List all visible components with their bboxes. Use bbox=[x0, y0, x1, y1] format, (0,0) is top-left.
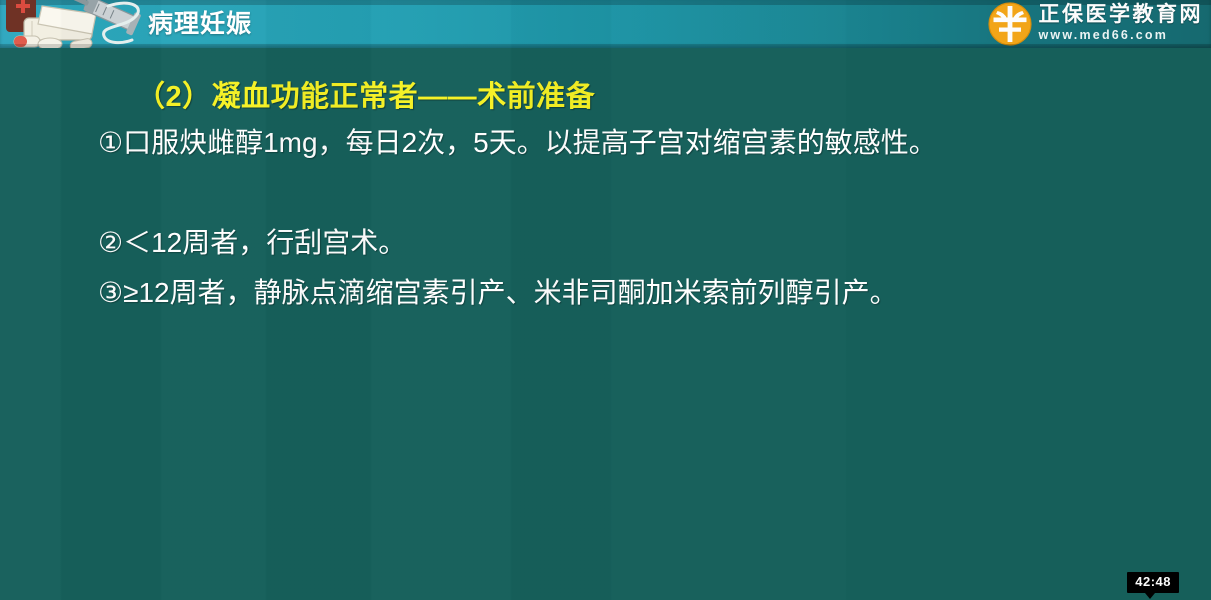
slide-paragraph-1-text: ①口服炔雌醇1mg，每日2次，5天。以提高子宫对缩宫素的敏感性。 bbox=[98, 127, 937, 158]
slide-paragraph-3-text: ③≥12周者，静脉点滴缩宫素引产、米非司酮加米索前列醇引产。 bbox=[98, 277, 898, 308]
slide-heading: （2）凝血功能正常者——术前准备 bbox=[136, 73, 595, 115]
brand-name: 正保医学教育网 bbox=[1039, 4, 1204, 25]
slide-paragraph-2: ②＜12周者，行刮宫术。 bbox=[58, 218, 1148, 268]
brand-text-block: 正保医学教育网 www.med66.com bbox=[1039, 4, 1204, 44]
medical-supplies-illustration bbox=[0, 0, 155, 48]
slide-paragraph-3: ③≥12周者，静脉点滴缩宫素引产、米非司酮加米索前列醇引产。 bbox=[58, 268, 1148, 318]
slide-paragraph-1: ①口服炔雌醇1mg，每日2次，5天。以提高子宫对缩宫素的敏感性。 bbox=[58, 118, 1148, 168]
brand-logo[interactable]: 正保医学教育网 www.med66.com bbox=[988, 1, 1204, 47]
med66-cross-logo-icon bbox=[988, 2, 1032, 46]
timer-badge-tail bbox=[1145, 593, 1155, 599]
slide-paragraph-2-text: ②＜12周者，行刮宫术。 bbox=[98, 227, 406, 258]
slide-header-bar: 病理妊娠 正保医学教育网 www.med66.com bbox=[0, 0, 1211, 48]
page-title: 病理妊娠 bbox=[148, 7, 252, 41]
video-timer-badge: 42:48 bbox=[1127, 572, 1179, 593]
lecture-slide-stage: 病理妊娠 正保医学教育网 www.med66.com bbox=[0, 0, 1211, 600]
slide-content-area: （2）凝血功能正常者——术前准备 ①口服炔雌醇1mg，每日2次，5天。以提高子宫… bbox=[0, 48, 1211, 600]
brand-url: www.med66.com bbox=[1039, 29, 1204, 42]
